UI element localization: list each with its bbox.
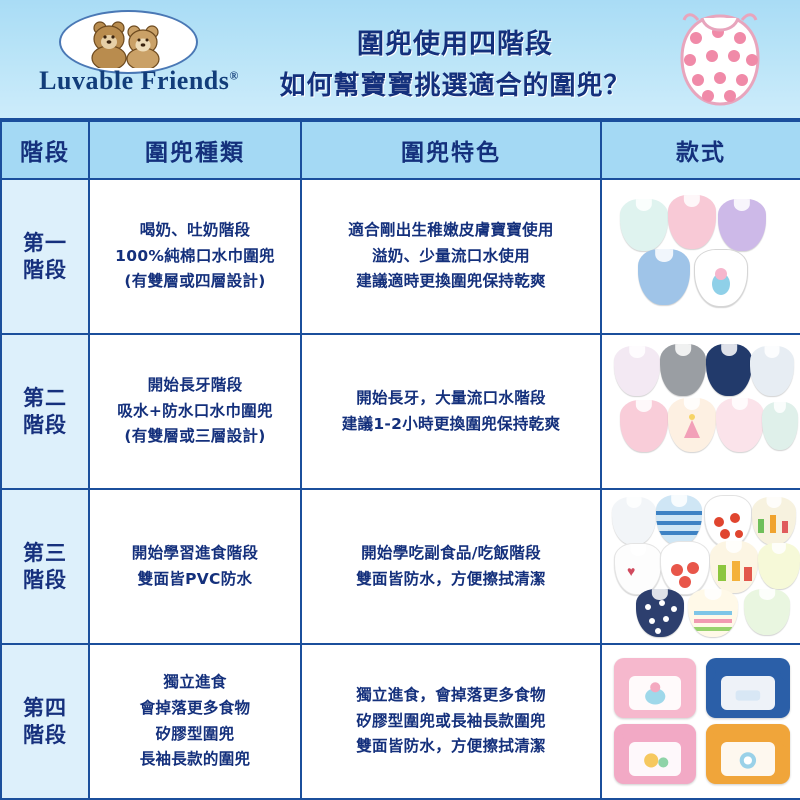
bib-feature-1-line3: 建議適時更換圍兜保持乾爽 (302, 269, 600, 295)
bib-swatch (660, 344, 706, 396)
sleeve-left (614, 663, 626, 684)
teddy-bears-logo-icon (72, 14, 182, 68)
bib-swatch (636, 589, 684, 637)
column-header-stage: 階段 (1, 121, 89, 179)
table-row: 第四 階段 獨立進食 會掉落更多食物 矽膠型圍兜 長袖長款的圍兜 獨立進食，會掉… (1, 644, 800, 799)
bib-feature-1: 適合剛出生稚嫩皮膚寶寶使用 溢奶、少量流口水使用 建議適時更換圍兜保持乾爽 (301, 179, 601, 334)
bib-type-3-line1: 開始學習進食階段 (90, 541, 300, 567)
stage-label-4-line1: 第四 (2, 695, 88, 721)
bib-feature-2: 開始長牙，大量流口水階段 建議1-2小時更換圍兜保持乾爽 (301, 334, 601, 489)
stage4-long-sleeve-silicone-bibs-photo-icon (602, 648, 800, 796)
long-sleeve-bib (614, 658, 696, 718)
bib-feature-4: 獨立進食，會掉落更多食物 矽膠型圍兜或長袖長款圍兜 雙面皆防水，方便擦拭清潔 (301, 644, 601, 799)
bib-swatch: ♥ (614, 543, 662, 595)
column-header-type: 圍兜種類 (89, 121, 301, 179)
bib-feature-1-line1: 適合剛出生稚嫩皮膚寶寶使用 (302, 218, 600, 244)
bib-style-photo-4 (601, 644, 800, 799)
bib-swatch (710, 541, 758, 593)
bib-swatch (660, 541, 710, 595)
pink-polka-dot-bib-icon (668, 8, 772, 112)
sleeve-right (778, 729, 790, 751)
sleeve-left (706, 729, 718, 751)
bib-swatch (688, 589, 738, 637)
bib-feature-3-line1: 開始學吃副食品/吃飯階段 (302, 541, 600, 567)
long-sleeve-bib (706, 658, 790, 718)
bib-type-2-line2: 吸水+防水口水巾圍兜 (90, 399, 300, 425)
brand-name: Luvable Friends® (14, 66, 264, 96)
stage-label-1-line2: 階段 (2, 257, 88, 283)
stage2-absorbent-waterproof-bibs-photo-icon (602, 338, 800, 486)
bib-type-2-line1: 開始長牙階段 (90, 373, 300, 399)
bib-swatch (718, 199, 766, 251)
bib-swatch (614, 346, 660, 396)
sleeve-left (706, 663, 718, 685)
bib-type-1-line3: (有雙層或四層設計) (90, 269, 300, 295)
stage-label-4: 第四 階段 (1, 644, 89, 799)
bib-swatch (752, 497, 796, 545)
stage-label-3-line1: 第三 (2, 540, 88, 566)
column-header-style: 款式 (601, 121, 800, 179)
bib-swatch (656, 495, 702, 545)
bib-type-3-line2: 雙面皆PVC防水 (90, 567, 300, 593)
stage-label-2: 第二 階段 (1, 334, 89, 489)
stage-label-2-line2: 階段 (2, 412, 88, 438)
bib-feature-1-line2: 溢奶、少量流口水使用 (302, 244, 600, 270)
bib-type-4-line3: 矽膠型圍兜 (90, 722, 300, 748)
bib-style-photo-2 (601, 334, 800, 489)
bib-style-photo-1 (601, 179, 800, 334)
bib-feature-2-line2: 建議1-2小時更換圍兜保持乾爽 (302, 412, 600, 438)
brand-logo: Luvable Friends® (14, 8, 264, 112)
table-row: 第二 階段 開始長牙階段 吸水+防水口水巾圍兜 (有雙層或三層設計) 開始長牙，… (1, 334, 800, 489)
registered-mark: ® (229, 68, 238, 82)
sleeve-right (684, 663, 696, 684)
table-header-row: 階段 圍兜種類 圍兜特色 款式 (1, 121, 800, 179)
sleeve-right (778, 663, 790, 685)
brand-name-text: Luvable Friends (39, 66, 229, 95)
bib-body-panel (721, 742, 775, 777)
bib-type-2: 開始長牙階段 吸水+防水口水巾圍兜 (有雙層或三層設計) (89, 334, 301, 489)
bib-swatch (704, 495, 752, 547)
infographic-page: Luvable Friends® 圍兜使用四階段 如何幫寶寶挑選適合的圍兜？ (0, 0, 800, 800)
bib-style-photo-3: ♥ (601, 489, 800, 644)
bib-type-4-line2: 會掉落更多食物 (90, 696, 300, 722)
bib-type-3: 開始學習進食階段 雙面皆PVC防水 (89, 489, 301, 644)
bib-feature-3: 開始學吃副食品/吃飯階段 雙面皆防水，方便擦拭清潔 (301, 489, 601, 644)
bib-swatch (758, 543, 800, 589)
sleeve-right (684, 729, 696, 750)
stage3-pvc-waterproof-bibs-photo-icon: ♥ (602, 493, 800, 641)
bib-feature-4-line3: 雙面皆防水，方便擦拭清潔 (302, 734, 600, 760)
bib-swatch (716, 398, 764, 452)
long-sleeve-bib (614, 724, 696, 784)
bib-swatch (744, 589, 790, 635)
bib-feature-4-line2: 矽膠型圍兜或長袖長款圍兜 (302, 709, 600, 735)
bib-swatch (762, 402, 798, 450)
bib-body-panel (629, 742, 681, 777)
page-header: Luvable Friends® 圍兜使用四階段 如何幫寶寶挑選適合的圍兜？ (0, 0, 800, 120)
bib-type-2-line3: (有雙層或三層設計) (90, 424, 300, 450)
bib-type-1-line2: 100%純棉口水巾圍兜 (90, 244, 300, 270)
sleeve-left (614, 729, 626, 750)
bib-body-panel (629, 676, 681, 711)
column-header-feature: 圍兜特色 (301, 121, 601, 179)
bib-type-1-line1: 喝奶、吐奶階段 (90, 218, 300, 244)
bib-swatch (620, 400, 668, 452)
bib-feature-4-line1: 獨立進食，會掉落更多食物 (302, 683, 600, 709)
bib-type-4: 獨立進食 會掉落更多食物 矽膠型圍兜 長袖長款的圍兜 (89, 644, 301, 799)
bib-type-4-line4: 長袖長款的圍兜 (90, 747, 300, 773)
bib-swatch (668, 195, 716, 249)
bib-swatch (694, 249, 748, 307)
bib-swatch (706, 344, 752, 396)
bib-type-1: 喝奶、吐奶階段 100%純棉口水巾圍兜 (有雙層或四層設計) (89, 179, 301, 334)
bib-swatch (638, 249, 690, 305)
stages-table: 階段 圍兜種類 圍兜特色 款式 第一 階段 喝奶、吐奶階段 100%純棉口水巾圍… (0, 120, 800, 800)
bib-feature-2-line1: 開始長牙，大量流口水階段 (302, 386, 600, 412)
table-row: 第一 階段 喝奶、吐奶階段 100%純棉口水巾圍兜 (有雙層或四層設計) 適合剛… (1, 179, 800, 334)
bib-swatch (668, 398, 716, 452)
stage-label-3-line2: 階段 (2, 567, 88, 593)
page-title: 圍兜使用四階段 如何幫寶寶挑選適合的圍兜？ (255, 22, 655, 102)
bib-swatch (750, 346, 794, 396)
stage-label-1-line1: 第一 (2, 230, 88, 256)
stage1-cotton-bibs-photo-icon (602, 183, 800, 331)
bib-body-panel (721, 676, 775, 711)
svg-text:♥: ♥ (627, 565, 635, 580)
title-primary: 圍兜使用四階段 (255, 22, 655, 61)
bib-feature-3-line2: 雙面皆防水，方便擦拭清潔 (302, 567, 600, 593)
stage-label-1: 第一 階段 (1, 179, 89, 334)
table-row: 第三 階段 開始學習進食階段 雙面皆PVC防水 開始學吃副食品/吃飯階段 雙面皆… (1, 489, 800, 644)
stage-label-3: 第三 階段 (1, 489, 89, 644)
bib-swatch (620, 199, 668, 251)
stage-label-2-line1: 第二 (2, 385, 88, 411)
long-sleeve-bib (706, 724, 790, 784)
stage-label-4-line2: 階段 (2, 722, 88, 748)
title-secondary: 如何幫寶寶挑選適合的圍兜？ (255, 65, 655, 102)
bib-swatch (612, 497, 656, 545)
bib-type-4-line1: 獨立進食 (90, 670, 300, 696)
